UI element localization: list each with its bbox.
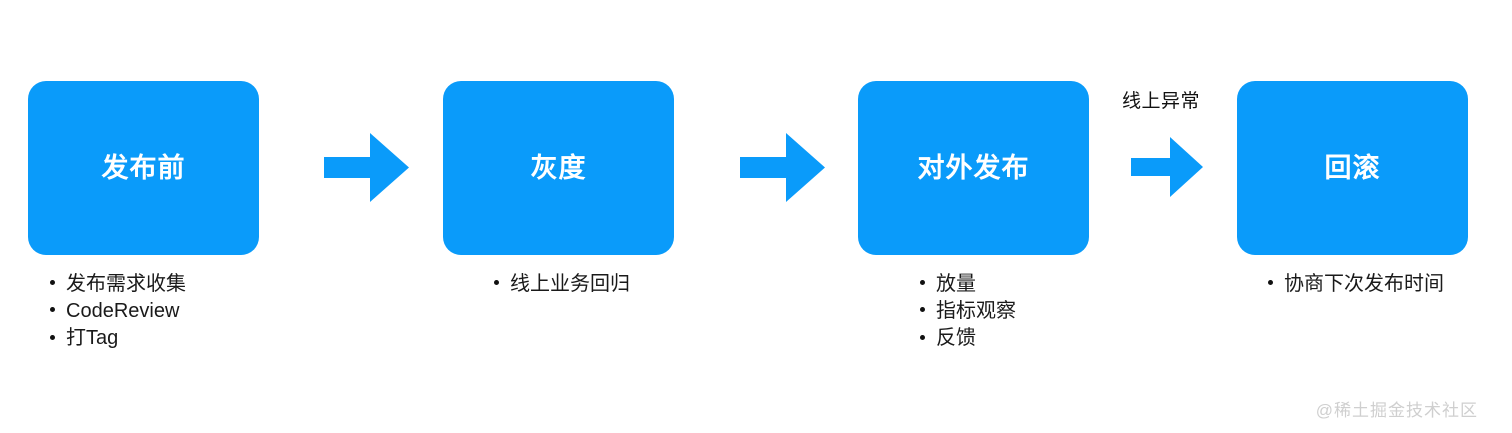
bullet-text: 反馈: [936, 328, 976, 350]
bullet-dot-icon: [1268, 280, 1273, 285]
list-item: 打Tag: [50, 325, 281, 352]
stage-title-pre-release: 发布前: [102, 155, 186, 182]
stage-title-gray-release: 灰度: [531, 155, 587, 182]
bullet-text: CodeReview: [66, 300, 179, 322]
watermark: @稀土掘金技术社区: [1316, 396, 1478, 421]
flow-stage-public-release: 对外发布 放量 指标观察 反馈: [858, 81, 1089, 255]
list-item: CodeReview: [50, 298, 281, 325]
stage-box-pre-release[interactable]: 发布前: [28, 81, 259, 255]
list-item: 反馈: [920, 325, 1151, 352]
bullet-text: 发布需求收集: [66, 273, 186, 295]
flow-arrow-icon-2: [740, 130, 825, 205]
stage-bullets-pre-release: 发布需求收集 CodeReview 打Tag: [28, 271, 281, 353]
bullet-dot-icon: [920, 307, 925, 312]
flow-stage-pre-release: 发布前 发布需求收集 CodeReview 打Tag: [28, 81, 259, 255]
list-item: 指标观察: [920, 298, 1151, 325]
stage-title-public-release: 对外发布: [918, 155, 1030, 182]
list-item: 线上业务回归: [494, 271, 725, 298]
bullet-dot-icon: [920, 335, 925, 340]
flow-stage-gray-release: 灰度 线上业务回归: [443, 81, 674, 255]
list-item: 发布需求收集: [50, 271, 281, 298]
bullet-dot-icon: [50, 280, 55, 285]
bullet-text: 指标观察: [936, 300, 1016, 322]
list-item: 放量: [920, 271, 1151, 298]
bullet-text: 放量: [936, 273, 976, 295]
bullet-dot-icon: [50, 335, 55, 340]
flow-stage-rollback: 回滚 协商下次发布时间: [1237, 81, 1468, 255]
bullet-dot-icon: [494, 280, 499, 285]
bullet-dot-icon: [50, 307, 55, 312]
stage-box-rollback[interactable]: 回滚: [1237, 81, 1468, 255]
flow-arrow-icon-1: [324, 130, 409, 205]
bullet-text: 协商下次发布时间: [1284, 273, 1444, 295]
stage-box-public-release[interactable]: 对外发布: [858, 81, 1089, 255]
stage-box-gray-release[interactable]: 灰度: [443, 81, 674, 255]
flow-arrow-icon-3: [1131, 135, 1203, 199]
list-item: 协商下次发布时间: [1268, 271, 1499, 298]
bullet-dot-icon: [920, 280, 925, 285]
stage-bullets-gray-release: 线上业务回归: [443, 271, 725, 298]
diagram-canvas: 发布前 发布需求收集 CodeReview 打Tag 灰度 线上业务回归: [0, 0, 1512, 433]
stage-bullets-public-release: 放量 指标观察 反馈: [858, 271, 1151, 353]
flow-arrow-label-online-anomaly: 线上异常: [1122, 86, 1200, 113]
bullet-text: 线上业务回归: [510, 273, 630, 295]
stage-title-rollback: 回滚: [1325, 155, 1381, 182]
stage-bullets-rollback: 协商下次发布时间: [1237, 271, 1499, 298]
bullet-text: 打Tag: [66, 328, 118, 350]
